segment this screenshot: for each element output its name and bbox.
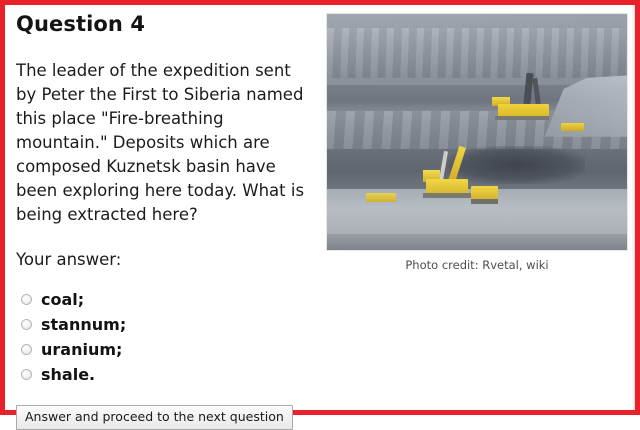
radio-button-icon[interactable] [21, 294, 32, 305]
photo-haul-truck-lower [471, 186, 498, 200]
answer-and-proceed-button[interactable]: Answer and proceed to the next question [16, 405, 293, 430]
quiz-card: Question 4 The leader of the expedition … [0, 0, 640, 415]
option-row-shale[interactable]: shale. [16, 364, 316, 385]
photo-haul-truck-upper [561, 123, 584, 131]
photo-haul-truck-wheels [471, 199, 498, 203]
option-row-stannum[interactable]: stannum; [16, 314, 316, 335]
submit-row: Answer and proceed to the next question [16, 405, 316, 430]
photo-excavator-upper-track [495, 116, 549, 120]
photo-credit: Photo credit: Rvetal, wiki [326, 258, 628, 272]
question-column: Question 4 The leader of the expedition … [16, 7, 316, 430]
your-answer-label: Your answer: [16, 249, 316, 271]
radio-button-icon[interactable] [21, 344, 32, 355]
option-label-stannum[interactable]: stannum; [41, 315, 126, 335]
answer-options-list: coal; stannum; uranium; shale. [16, 289, 316, 385]
option-label-uranium[interactable]: uranium; [41, 340, 122, 360]
option-row-uranium[interactable]: uranium; [16, 339, 316, 360]
option-label-coal[interactable]: coal; [41, 290, 84, 310]
photo-excavator-lower-body [426, 179, 468, 194]
photo-excavator-upper-body [498, 104, 549, 117]
photo-excavator-lower-base [423, 193, 471, 198]
question-body-text: The leader of the expedition sent by Pet… [16, 59, 312, 227]
radio-button-icon[interactable] [21, 319, 32, 330]
option-label-shale[interactable]: shale. [41, 365, 95, 385]
question-photo [326, 13, 628, 251]
photo-column: Photo credit: Rvetal, wiki [326, 13, 628, 272]
photo-service-vehicle [366, 193, 396, 201]
quiz-body: Question 4 The leader of the expedition … [5, 5, 635, 410]
page-title: Question 4 [16, 7, 316, 37]
option-row-coal[interactable]: coal; [16, 289, 316, 310]
photo-coal-seam [447, 146, 585, 184]
radio-button-icon[interactable] [21, 369, 32, 380]
